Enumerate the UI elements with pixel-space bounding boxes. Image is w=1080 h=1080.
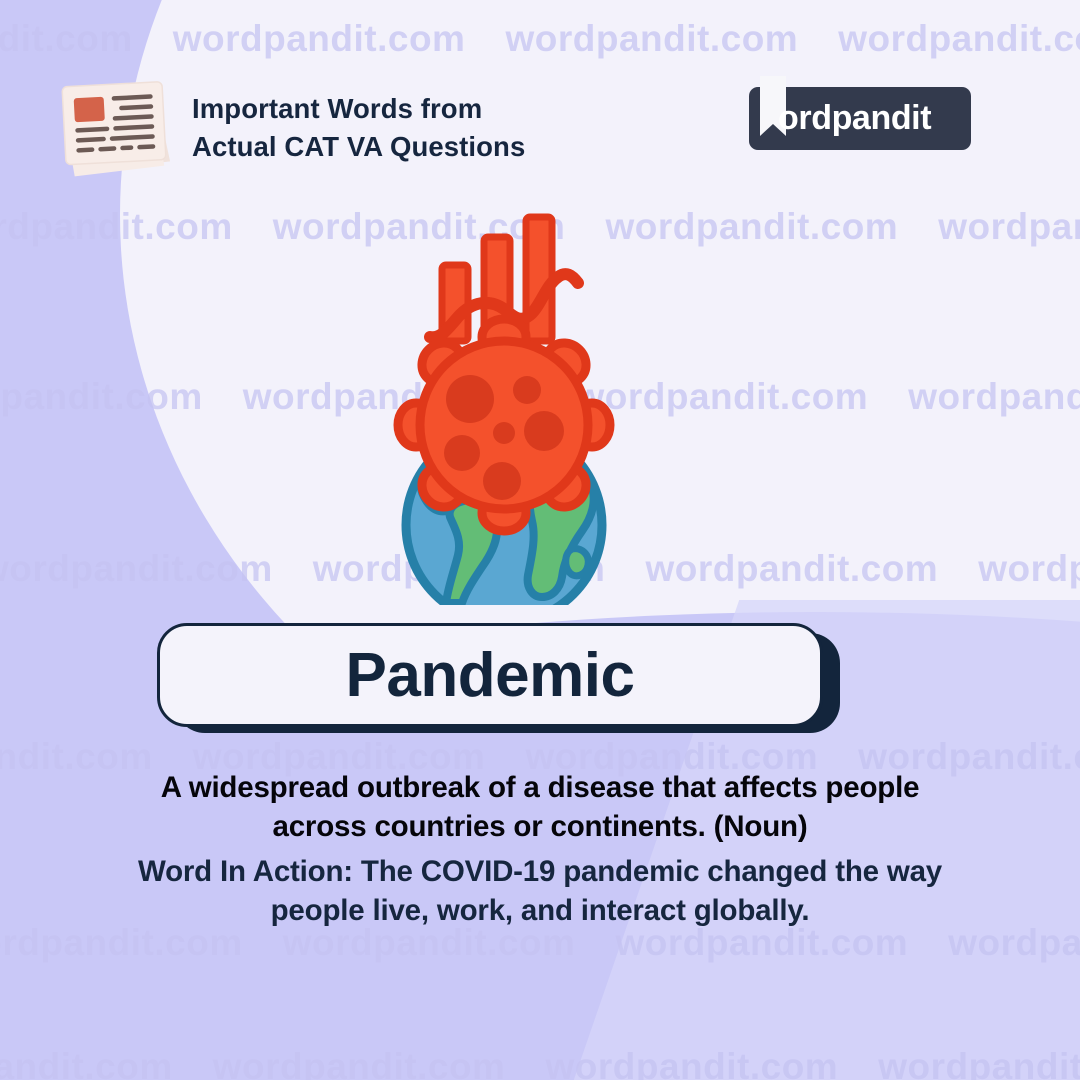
page-title: Important Words from Actual CAT VA Quest… <box>192 90 525 166</box>
word-in-action: Word In Action: The COVID-19 pandemic ch… <box>22 852 1058 930</box>
page-title-line-2: Actual CAT VA Questions <box>192 128 525 166</box>
page-title-line-1: Important Words from <box>192 90 525 128</box>
virus-icon <box>398 319 610 531</box>
pandemic-illustration <box>386 205 636 605</box>
word-card[interactable]: Pandemic <box>157 623 823 727</box>
definition-line-2: across countries or continents. (Noun) <box>40 807 1040 846</box>
wordpandit-logo-text: ordpandit <box>778 99 931 138</box>
example-line-1: Word In Action: The COVID-19 pandemic ch… <box>22 852 1058 891</box>
newspaper-icon <box>56 68 180 178</box>
word-term: Pandemic <box>346 640 635 711</box>
definition-line-1: A widespread outbreak of a disease that … <box>40 768 1040 807</box>
word-definition: A widespread outbreak of a disease that … <box>40 768 1040 846</box>
background-left-strip <box>0 0 18 70</box>
word-card-graphic: wordpandit.comwordpandit.comwordpandit.c… <box>0 0 1080 1080</box>
example-line-2: people live, work, and interact globally… <box>22 891 1058 930</box>
